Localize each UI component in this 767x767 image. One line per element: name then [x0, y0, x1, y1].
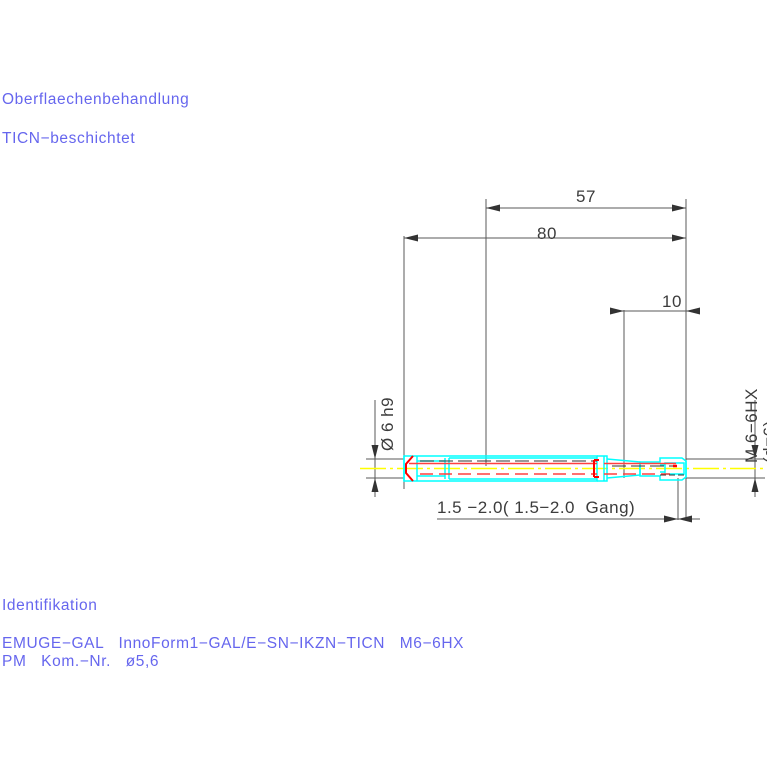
arrow-57-right — [672, 205, 686, 212]
dimension-label-pitch-range: 1.5 −2.0( 1.5−2.0 Gang) — [437, 498, 635, 518]
dimension-label-thread-length: 10 — [662, 292, 682, 312]
identification-title: Identifikation — [2, 597, 97, 615]
arrow-pitch-right — [678, 516, 692, 523]
arrowhead-group — [372, 205, 759, 523]
dimension-label-flute-length: 57 — [576, 187, 596, 207]
identification-line-1: EMUGE−GAL InnoForm1−GAL/E−SN−IKZN−TICN M… — [2, 635, 464, 653]
identification-line-2: PM Kom.−Nr. ø5,6 — [2, 653, 159, 671]
arrow-10-right — [686, 308, 700, 315]
arrow-thread-bottom — [752, 478, 759, 492]
dimension-label-overall-length: 80 — [537, 224, 557, 244]
arrow-80-right — [672, 235, 686, 242]
arrow-10-left — [610, 308, 624, 315]
dimension-line-group — [366, 199, 765, 520]
dimension-label-thread-spec: M 6−6HX — [742, 388, 762, 463]
arrow-80-left — [404, 235, 418, 242]
surface-treatment-title: Oberflaechenbehandlung — [2, 91, 189, 109]
surface-treatment-value: TICN−beschichtet — [2, 130, 135, 148]
dimension-label-thread-sub: (d=6) — [760, 420, 767, 463]
arrow-dia-bottom — [372, 478, 379, 492]
dimension-label-shank-diameter: Ø 6 h9 — [378, 397, 398, 451]
arrow-57-left — [486, 205, 500, 212]
arrow-pitch-left — [664, 516, 678, 523]
